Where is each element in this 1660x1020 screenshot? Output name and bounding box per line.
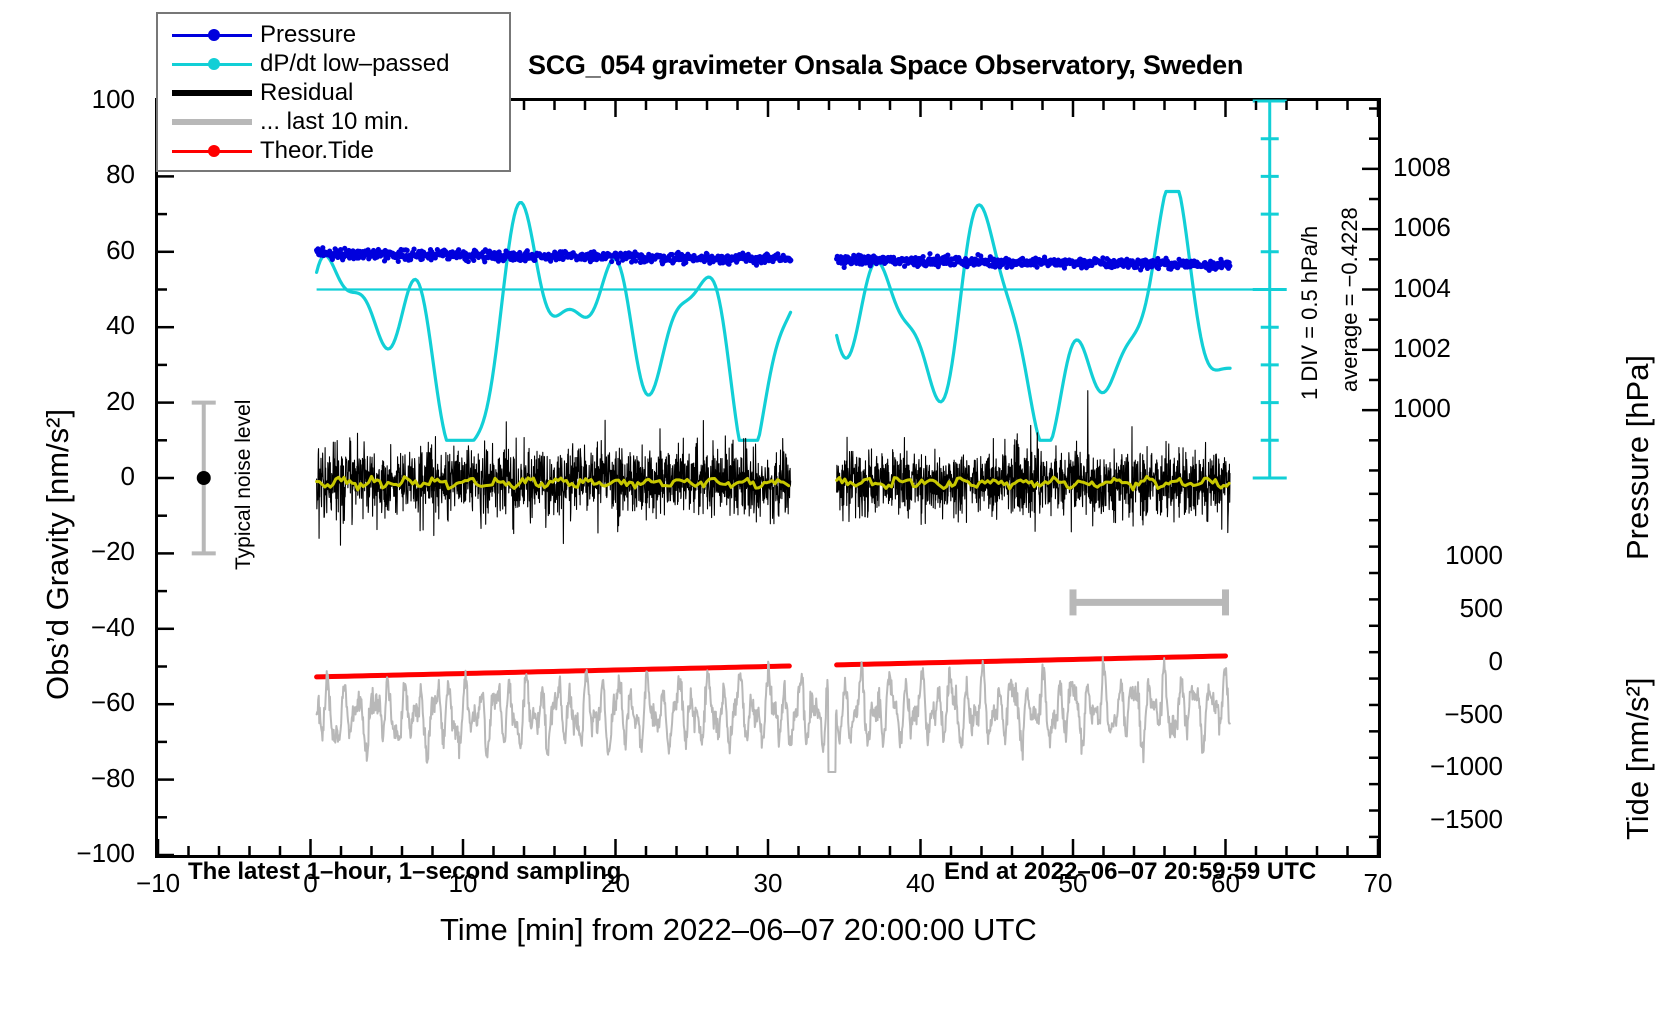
tide-tick-label: 1000 [1393,540,1503,571]
legend-line-icon [172,90,252,96]
pressure-axis-title: Pressure [hPa] [1620,355,1656,560]
pressure-tick-label: 1004 [1393,273,1451,304]
tide-tick-label: −1500 [1393,804,1503,835]
y-tick-label: 60 [55,235,135,266]
x-tick-label: 70 [1352,868,1404,899]
legend-line-icon [172,119,252,125]
legend-item-1[interactable]: dP/dt low–passed [168,49,509,78]
y-tick-label: 0 [55,461,135,492]
legend-swatch-icon [168,54,256,74]
legend-label: Pressure [256,21,356,49]
x-tick-label: 30 [742,868,794,899]
legend-item-3[interactable]: ... last 10 min. [168,107,509,136]
legend-marker-icon [208,29,220,41]
legend-marker-icon [208,145,220,157]
x-tick-label: 40 [895,868,947,899]
x-axis-title: Time [min] from 2022–06–07 20:00:00 UTC [440,912,1037,948]
pressure-tick-label: 1002 [1393,333,1451,364]
pressure-tick-label: 1000 [1393,393,1451,424]
legend-item-2[interactable]: Residual [168,78,509,107]
scalebar-div-label: 1 DIV = 0.5 hPa/h [1297,226,1323,400]
y-tick-label: −60 [55,687,135,718]
x-tick-label: −10 [132,868,184,899]
legend-marker-icon [208,58,220,70]
footer-right-note: End at 2022–06–07 20:59:59 UTC [944,858,1316,886]
tide-tick-label: 500 [1393,593,1503,624]
tide-tick-label: −1000 [1393,751,1503,782]
pressure-tick-label: 1008 [1393,152,1451,183]
y-tick-label: 100 [55,84,135,115]
tide-tick-label: −500 [1393,699,1503,730]
legend-label: Residual [256,79,353,107]
legend-swatch-icon [168,141,256,161]
legend-label: ... last 10 min. [256,108,409,136]
y-tick-label: 40 [55,310,135,341]
y-tick-label: −80 [55,763,135,794]
tide-axis-title: Tide [nm/s²] [1620,678,1656,841]
legend-swatch-icon [168,112,256,132]
legend: PressuredP/dt low–passedResidual... last… [156,12,511,172]
legend-label: Theor.Tide [256,137,374,165]
y-tick-label: 20 [55,386,135,417]
scalebar-average-label: average = −0.4228 [1337,207,1363,392]
y-tick-label: −40 [55,612,135,643]
legend-item-0[interactable]: Pressure [168,20,509,49]
y-tick-label: 80 [55,159,135,190]
legend-item-4[interactable]: Theor.Tide [168,136,509,165]
typical-noise-level-label: Typical noise level [232,400,256,570]
y-tick-label: −100 [55,838,135,869]
y-tick-label: −20 [55,536,135,567]
chart-root: SCG_054 gravimeter Onsala Space Observat… [0,0,1660,1020]
pressure-tick-label: 1006 [1393,212,1451,243]
tide-tick-label: 0 [1393,646,1503,677]
footer-left-note: The latest 1–hour, 1–second sampling [188,858,621,886]
legend-swatch-icon [168,83,256,103]
legend-swatch-icon [168,25,256,45]
legend-label: dP/dt low–passed [256,50,449,78]
